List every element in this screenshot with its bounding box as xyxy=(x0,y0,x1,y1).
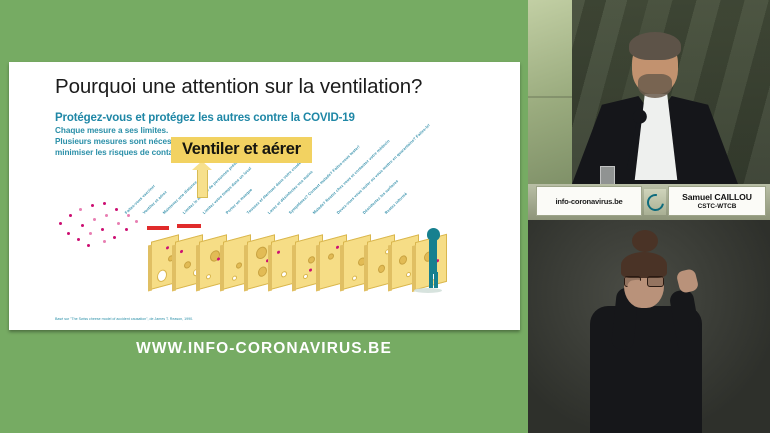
slide-panel: Pourquoi une attention sur la ventilatio… xyxy=(0,0,528,433)
measure-label-group: Faites-vous vacciner Ventilez et aérez M… xyxy=(125,112,495,217)
speaker-hair xyxy=(629,32,681,60)
speaker-name: Samuel CAILLOU xyxy=(682,192,752,202)
speaker-beard xyxy=(638,74,672,98)
protected-person-figure xyxy=(423,228,445,290)
interpreter-hair-bun xyxy=(632,230,658,252)
presentation-screen: Pourquoi une attention sur la ventilatio… xyxy=(0,0,770,433)
organization-logo xyxy=(644,189,666,215)
nameplate-speaker: Samuel CAILLOU CSTC-WTCB xyxy=(668,186,766,216)
video-column: info-coronavirus.be Samuel CAILLOU CSTC-… xyxy=(528,0,770,433)
interpreter-hair xyxy=(621,252,667,278)
measure-label: Devez-vous vous isoler ou vous mettre en… xyxy=(336,123,431,215)
covid-poster: Protégez-vous et protégez les autres con… xyxy=(55,112,495,317)
poster-credit: Basé sur "The Swiss cheese model of acci… xyxy=(55,317,193,321)
wall-panel xyxy=(528,0,572,186)
measure-label: Faites-vous vacciner xyxy=(124,183,157,215)
swirl-icon xyxy=(643,190,667,214)
nameplate-website-text: info-coronavirus.be xyxy=(555,197,622,206)
slide-title: Pourquoi une attention sur la ventilatio… xyxy=(55,75,422,99)
slide-card: Pourquoi une attention sur la ventilatio… xyxy=(9,62,520,330)
speaker-video-panel[interactable]: info-coronavirus.be Samuel CAILLOU CSTC-… xyxy=(528,0,770,220)
speaker-organization: CSTC-WTCB xyxy=(698,203,737,210)
measure-label: Restez informé xyxy=(384,191,409,215)
infection-beam xyxy=(177,224,201,228)
measure-label: Maintenez une distance xyxy=(162,180,198,215)
callout-arrow-icon xyxy=(197,168,208,198)
ventilation-callout: Ventiler et aérer xyxy=(171,137,312,163)
footer-website-url: WWW.INFO-CORONAVIRUS.BE xyxy=(0,340,528,358)
sign-language-video-panel[interactable] xyxy=(528,220,770,433)
infection-beam xyxy=(147,226,169,230)
nameplate-website: info-coronavirus.be xyxy=(536,186,642,216)
